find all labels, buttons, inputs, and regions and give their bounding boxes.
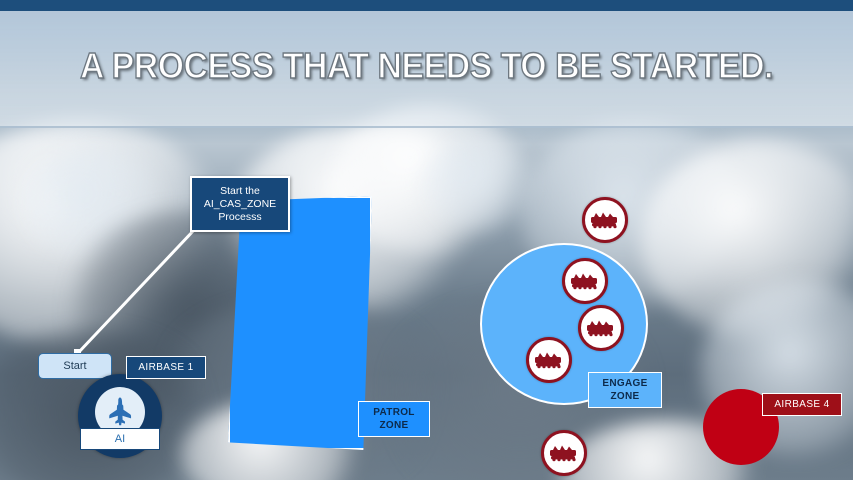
enemy-armor-icon[interactable] bbox=[562, 258, 608, 304]
patrol-label-line-2: ZONE bbox=[373, 419, 414, 432]
callout-line-3: Processs bbox=[204, 211, 276, 224]
engage-label-line-1: ENGAGE bbox=[602, 377, 647, 390]
top-accent-bar bbox=[0, 0, 853, 11]
callout-box[interactable]: Start the AI_CAS_ZONE Processs bbox=[190, 176, 290, 232]
callout-line-2: AI_CAS_ZONE bbox=[204, 198, 276, 211]
cloud-shape bbox=[420, 140, 540, 230]
patrol-zone-shape[interactable] bbox=[228, 196, 372, 450]
start-button[interactable]: Start bbox=[38, 353, 112, 379]
engage-label-line-2: ZONE bbox=[602, 390, 647, 403]
callout-line-1: Start the bbox=[204, 185, 276, 198]
patrol-label-line-1: PATROL bbox=[373, 406, 414, 419]
enemy-armor-icon[interactable] bbox=[578, 305, 624, 351]
airbase-1-label[interactable]: AIRBASE 1 bbox=[126, 356, 206, 379]
enemy-armor-icon[interactable] bbox=[526, 337, 572, 383]
enemy-armor-icon[interactable] bbox=[582, 197, 628, 243]
engage-zone-label[interactable]: ENGAGE ZONE bbox=[588, 372, 662, 408]
airbase-4-label[interactable]: AIRBASE 4 bbox=[762, 393, 842, 416]
patrol-zone-label[interactable]: PATROL ZONE bbox=[358, 401, 430, 437]
presentation-slide: A PROCESS THAT NEEDS TO BE STARTED. Star… bbox=[0, 0, 853, 480]
enemy-armor-icon[interactable] bbox=[541, 430, 587, 476]
page-title: A PROCESS THAT NEEDS TO BE STARTED. bbox=[26, 45, 828, 87]
airbase-1-unit-label: AI bbox=[80, 428, 160, 450]
